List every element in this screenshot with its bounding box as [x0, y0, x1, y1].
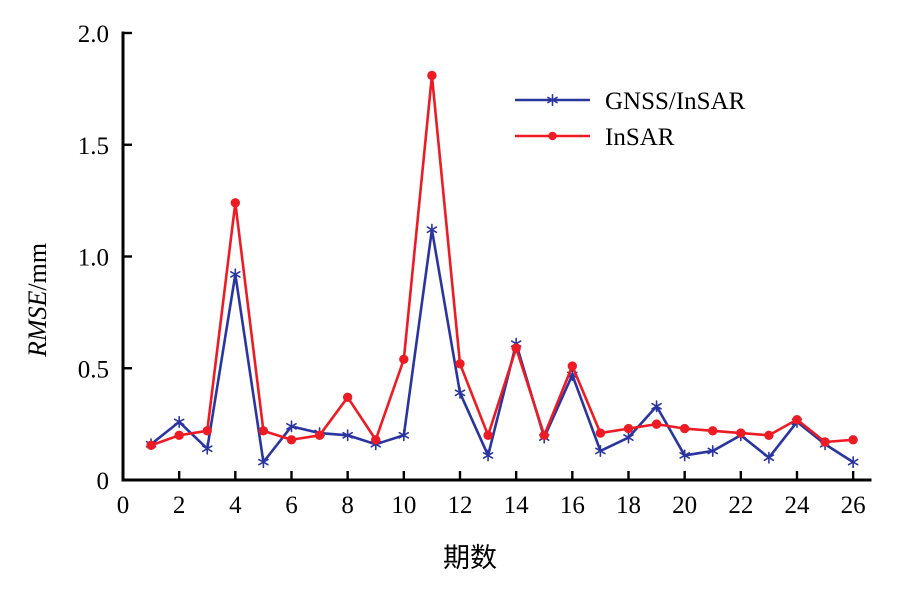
data-point-marker	[456, 360, 464, 368]
data-point-marker	[568, 362, 576, 370]
y-tick-label: 0	[97, 468, 110, 495]
data-point-marker	[680, 424, 688, 432]
chart-figure: 00.51.01.52.0 02468101214161820222426 RM…	[0, 0, 898, 606]
data-point-marker	[737, 429, 745, 437]
data-point-marker	[259, 427, 267, 435]
x-axis-tick-labels: 02468101214161820222426	[117, 492, 866, 519]
x-tick-label: 16	[560, 492, 585, 519]
data-point-marker	[400, 355, 408, 363]
y-tick-label: 1.0	[78, 245, 109, 272]
x-tick-label: 26	[841, 492, 866, 519]
x-tick-label: 10	[391, 492, 416, 519]
data-point-marker	[315, 431, 323, 439]
data-point-marker	[709, 427, 717, 435]
y-tick-label: 2.0	[78, 21, 109, 48]
y-axis-tick-labels: 00.51.01.52.0	[78, 21, 109, 495]
data-series-group	[147, 71, 858, 467]
x-tick-label: 14	[504, 492, 530, 519]
x-tick-label: 22	[728, 492, 753, 519]
series-line	[151, 230, 853, 462]
x-tick-label: 12	[447, 492, 472, 519]
data-point-marker	[793, 415, 801, 423]
legend-label-1: GNSS/InSAR	[605, 88, 746, 115]
data-point-marker	[596, 429, 604, 437]
x-axis-title: 期数	[443, 543, 497, 574]
data-point-marker	[287, 436, 295, 444]
x-tick-label: 4	[229, 492, 242, 519]
x-tick-label: 24	[784, 492, 810, 519]
x-tick-label: 6	[285, 492, 298, 519]
y-tick-label: 0.5	[78, 356, 109, 383]
chart-legend: GNSS/InSARInSAR	[515, 88, 746, 151]
data-point-marker	[512, 344, 520, 352]
x-tick-label: 8	[341, 492, 354, 519]
data-point-marker	[765, 431, 773, 439]
data-point-marker	[372, 436, 380, 444]
data-point-marker	[203, 427, 211, 435]
data-point-marker	[428, 71, 436, 79]
x-tick-label: 2	[173, 492, 186, 519]
data-point-marker	[624, 424, 632, 432]
data-point-marker	[175, 431, 183, 439]
x-tick-label: 0	[117, 492, 130, 519]
x-tick-label: 20	[672, 492, 697, 519]
data-point-marker	[652, 420, 660, 428]
data-point-marker	[343, 393, 351, 401]
y-axis-title-italic: RMSE	[23, 291, 52, 359]
x-tick-label: 18	[616, 492, 641, 519]
data-point-marker	[540, 431, 548, 439]
data-point-marker	[849, 436, 857, 444]
data-point-marker	[231, 199, 239, 207]
y-tick-label: 1.5	[78, 133, 109, 160]
data-point-marker	[821, 438, 829, 446]
legend-marker-circle	[548, 132, 556, 140]
line-chart-canvas: 00.51.01.52.0 02468101214161820222426 RM…	[0, 0, 898, 606]
data-point-marker	[484, 431, 492, 439]
y-axis-title-rest: /mm	[23, 243, 52, 291]
y-axis-title: RMSE/mm	[23, 243, 52, 358]
series-line	[151, 75, 853, 445]
svg-text:RMSE/mm: RMSE/mm	[23, 243, 52, 358]
legend-label-2: InSAR	[605, 124, 675, 151]
data-point-marker	[147, 441, 155, 449]
